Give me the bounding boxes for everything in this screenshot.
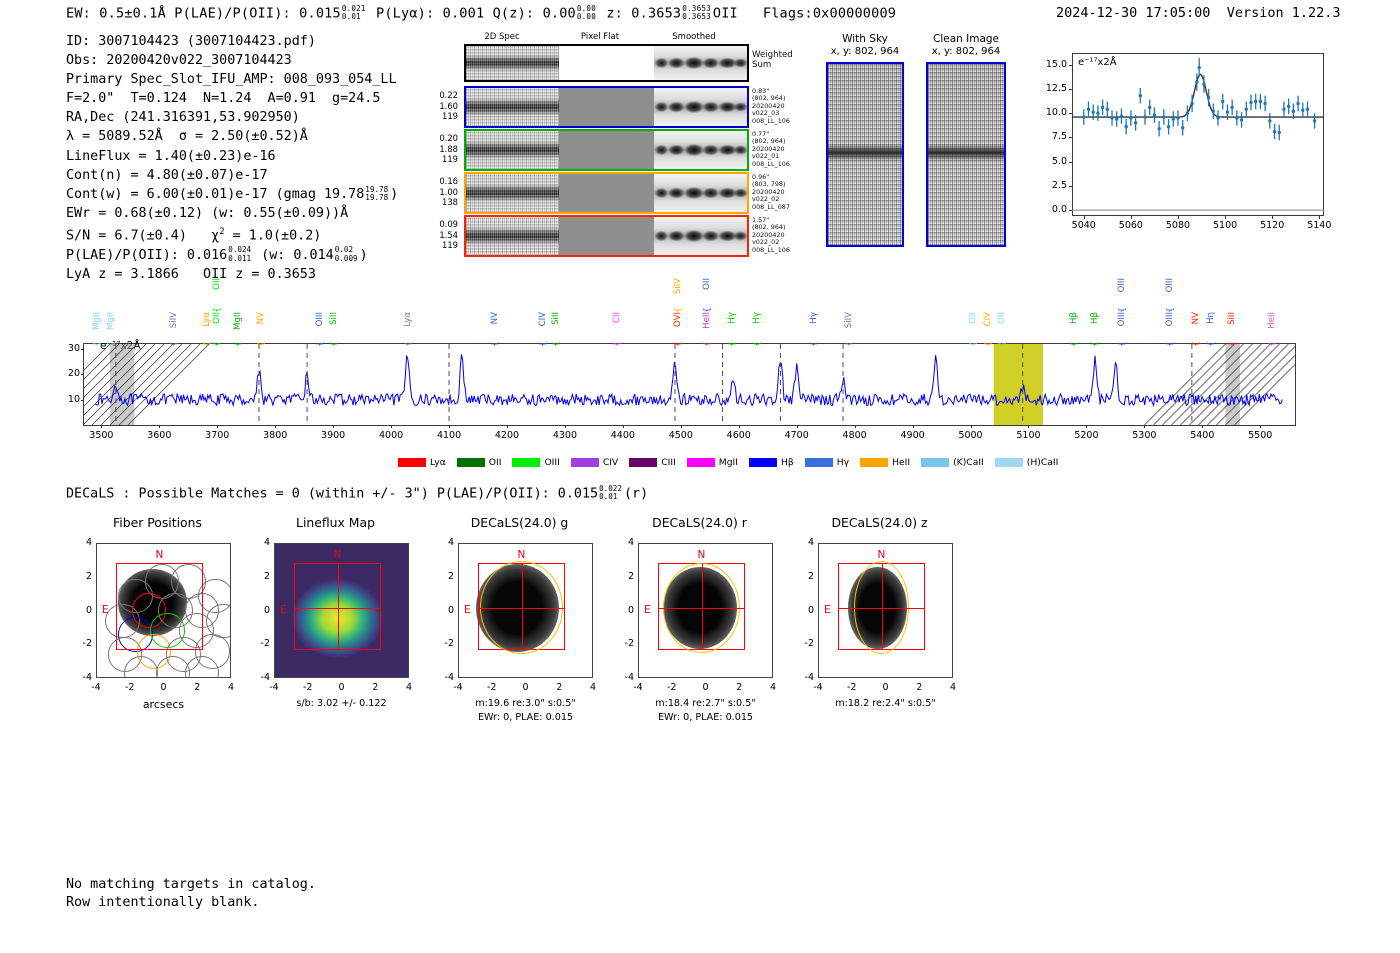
legend-item: CIV [571, 457, 618, 468]
legend-item: OIII [512, 457, 559, 468]
fiber-row-4 [464, 215, 749, 257]
gmag-errorbars: 19.7819.78 [365, 186, 388, 202]
plae-errorbars: 0.0210.01 [342, 5, 366, 22]
spectral-line-label: HeII [1267, 312, 1277, 329]
emission-ytick: 10.0 [1032, 107, 1067, 118]
spectral-line-label: MgII [92, 312, 102, 330]
emission-xtick-mark [1225, 216, 1226, 219]
spectral-line-label: NV [256, 312, 266, 324]
spectrum-xtick-mark [333, 425, 334, 428]
spectrum-xtick: 4600 [719, 430, 759, 441]
north-label: N [517, 549, 525, 561]
cutout-xtick: 2 [183, 682, 211, 693]
spectral-line-label: CIV [983, 312, 993, 326]
emission-ytick: 2.5 [1032, 180, 1067, 191]
fiber-2-2dspec [466, 131, 559, 169]
footer-line-2: Row intentionally blank. [66, 895, 259, 910]
spectral-line-label: NV [1191, 312, 1201, 324]
legend-swatch [749, 458, 777, 467]
plae-wide-errorbars: 0.020.009 [335, 246, 358, 262]
cutout-xtick: 0 [692, 682, 720, 693]
spectral-line-label: OII [997, 312, 1007, 324]
cutout-ytick: -4 [614, 672, 634, 683]
header-timestamp-version: 2024-12-30 17:05:00 Version 1.22.3 [1056, 5, 1341, 21]
cutout-panel-2: DECaLS(24.0) gNE-4-2024420-2-4m:19.6 re:… [432, 515, 607, 730]
fiber-1-2dspec [466, 88, 559, 126]
emission-xtick: 5060 [1114, 220, 1148, 231]
info-seeing: F=2.0" T=0.124 N=1.24 A=0.91 g=24.5 [66, 91, 380, 106]
cutout-xtick: -4 [82, 682, 110, 693]
spectral-line-label: CIV [538, 312, 548, 326]
fiber-2-numbers: 0.20 1.88 119 [400, 133, 458, 165]
weighted-sum-row [464, 44, 749, 82]
legend-label: (K)CaII [953, 457, 984, 468]
spectrum-ytick: 20 [52, 368, 80, 379]
info-lineflux: LineFlux = 1.40(±0.23)e-16 [66, 149, 276, 164]
fiber-1-numbers: 0.22 1.60 119 [400, 90, 458, 122]
info-cont-w-close: ) [390, 187, 398, 202]
cutout-xtick: 4 [759, 682, 787, 693]
spectrum-xtick: 4100 [429, 430, 469, 441]
spectrum-xtick: 4400 [603, 430, 643, 441]
cutout-xtick: -4 [804, 682, 832, 693]
fiber-1-meta: 0.83" (802, 964) 20200420 v022_03 008_LL… [752, 88, 790, 125]
col-title-pixelflat: Pixel Flat [560, 32, 640, 42]
spectrum-xtick-mark [565, 425, 566, 428]
spectral-line-label: Hγ [752, 312, 762, 324]
spectral-line-label: CII [612, 312, 622, 323]
legend-label: Hβ [781, 457, 794, 468]
qz-errorbars: 0.000.00 [577, 5, 596, 22]
cutout-xtick: -4 [624, 682, 652, 693]
cutout-ytick: -4 [72, 672, 92, 683]
decals-plae-errorbars: 0.0220.01 [599, 485, 622, 502]
spectrum-ytick: 10 [52, 394, 80, 405]
legend-item: (H)CaII [995, 457, 1059, 468]
east-label: E [644, 604, 651, 616]
spectral-line-label: OII [212, 312, 222, 324]
legend-item: (K)CaII [921, 457, 984, 468]
legend-item: HeII [860, 457, 910, 468]
sky-emission-band [828, 144, 902, 161]
spectral-line-bracket: } [672, 307, 682, 313]
fiber-2-meta: 0.77" (802, 964) 20200420 v022_01 008_LL… [752, 131, 790, 168]
legend-item: OII [457, 457, 502, 468]
cutout-xtick: -2 [294, 682, 322, 693]
header-plya-qz: P(Lyα): 0.001 Q(z): 0.00 [376, 5, 576, 21]
cutout-ytick: -4 [250, 672, 270, 683]
legend-swatch [921, 458, 949, 467]
spectrum-xtick: 4800 [835, 430, 875, 441]
stamp-clean-title: Clean Image [920, 33, 1012, 45]
aperture-box [116, 563, 204, 651]
spectrum-xtick: 5000 [951, 430, 991, 441]
stamp-clean-imagebox [926, 62, 1006, 247]
spectrum-xtick: 5300 [1124, 430, 1164, 441]
fiber-2-smoothed [654, 131, 747, 169]
fiber-4-meta: 1.57" (802, 964) 20200420 v022_02 008_LL… [752, 217, 790, 254]
cutout-xtick: 4 [395, 682, 423, 693]
spectrum-xtick-mark [855, 425, 856, 428]
cutout-ytick: -4 [434, 672, 454, 683]
spectrum-xtick-mark [449, 425, 450, 428]
spectral-line-label: OIII [1165, 312, 1175, 326]
legend-label: OIII [544, 457, 559, 468]
spectral-line-label: MgII [233, 312, 243, 330]
emission-xtick-mark [1319, 216, 1320, 219]
spectral-line-label: OIII [315, 312, 325, 326]
cutout-xtick: 4 [217, 682, 245, 693]
weighted-sum-label: Weighted Sum [752, 50, 793, 70]
cutout-image[interactable] [458, 543, 593, 678]
info-lambda-sigma: λ = 5089.52Å σ = 2.50(±0.52)Å [66, 129, 308, 144]
emission-xtick: 5100 [1208, 220, 1242, 231]
east-label: E [280, 604, 287, 616]
spectrum-xtick: 5100 [1008, 430, 1048, 441]
emission-xtick: 5120 [1255, 220, 1289, 231]
spectrum-xtick: 4300 [545, 430, 585, 441]
cutout-xtick: 2 [545, 682, 573, 693]
cutout-xtick: 2 [905, 682, 933, 693]
spectrum-xtick-mark [275, 425, 276, 428]
cutout-xtick: 4 [579, 682, 607, 693]
emission-plot-data [1072, 53, 1324, 216]
spectrum-xtick-mark [101, 425, 102, 428]
header-flags: Flags:0x00000009 [763, 5, 896, 21]
header-redshift: z: 0.3653 [606, 5, 681, 21]
header-z-species: OII [713, 5, 738, 21]
emission-xtick-mark [1178, 216, 1179, 219]
spec2d-panel-group: 2D Spec Pixel Flat Smoothed Weighted Sum… [432, 32, 762, 252]
spectral-line-label: SiII [1227, 312, 1237, 325]
cutout-ytick: 2 [250, 571, 270, 582]
spectrum-xtick-mark [1028, 425, 1029, 428]
cutout-xtick: -2 [658, 682, 686, 693]
cutout-xtick: 2 [725, 682, 753, 693]
emission-ytick: 15.0 [1032, 59, 1067, 70]
spectral-line-label: OII [212, 278, 222, 290]
clean-emission-band [928, 144, 1004, 161]
spectrum-xtick-mark [391, 425, 392, 428]
spectrum-xtick: 5200 [1066, 430, 1106, 441]
cutout-ytick: 2 [794, 571, 814, 582]
spectrum-xtick-mark [913, 425, 914, 428]
cutout-panel-0: Fiber PositionsNE-4-2024420-2-4arcsecs [70, 515, 245, 730]
cutout-ytick: -2 [72, 638, 92, 649]
east-label: E [102, 604, 109, 616]
legend-item: MgII [687, 457, 738, 468]
spectral-line-label: OIII [1117, 312, 1127, 326]
stamp-with-sky-coords: x, y: 802, 964 [820, 46, 910, 57]
spectral-line-label: OII [968, 312, 978, 324]
legend-swatch [512, 458, 540, 467]
decals-match-text: DECaLS : Possible Matches = 0 (within +/… [66, 486, 598, 501]
spectrum-xtick: 5500 [1240, 430, 1280, 441]
legend-label: Lyα [430, 457, 446, 468]
cutout-image[interactable] [96, 543, 231, 678]
cutout-xtick: 4 [939, 682, 967, 693]
legend-item: Hβ [749, 457, 794, 468]
spectrum-xtick-mark [1086, 425, 1087, 428]
legend-label: CIII [661, 457, 676, 468]
info-ewr: EWr = 0.68(±0.12) (w: 0.55(±0.09))Å [66, 206, 348, 221]
spectral-line-label: OIII [1117, 278, 1127, 292]
cutout-ytick: -4 [794, 672, 814, 683]
fiber-row-2 [464, 129, 749, 171]
spectral-line-label: SiIV [673, 278, 683, 294]
fiber-4-pixelflat [559, 217, 655, 255]
spectrum-xtick: 3800 [255, 430, 295, 441]
spectral-line-label: Hγ [809, 312, 819, 324]
cutout-ytick: 4 [434, 537, 454, 548]
emission-ytick: 0.0 [1032, 204, 1067, 215]
fiber-4-2dspec [466, 217, 559, 255]
cutout-panel-4: DECaLS(24.0) zNE-4-2024420-2-4m:18.2 re:… [792, 515, 967, 730]
fiber-3-numbers: 0.16 1.00 138 [400, 176, 458, 208]
cutout-ytick: 2 [434, 571, 454, 582]
spectrum-xtick-mark [159, 425, 160, 428]
cutout-ytick: -2 [614, 638, 634, 649]
cutout-caption-secondary: EWr: 0, PLAE: 0.015 [612, 712, 799, 723]
header-ew-plae: EW: 0.5±0.1Å P(LAE)/P(OII): 0.015 [66, 5, 341, 21]
info-cont-w: Cont(w) = 6.00(±0.01)e-17 (gmag 19.78 [66, 187, 364, 202]
cutout-caption-primary: m:18.4 re:2.7" s:0.5" [612, 698, 799, 709]
info-cont-n: Cont(n) = 4.80(±0.07)e-17 [66, 168, 268, 183]
z-errorbars: 0.36530.3653 [682, 5, 711, 22]
cutout-ytick: -2 [794, 638, 814, 649]
spectrum-xtick-mark [507, 425, 508, 428]
cutout-panel-title: Fiber Positions [60, 515, 255, 530]
cutout-caption-primary: m:18.2 re:2.4" s:0.5" [792, 698, 979, 709]
info-chi2: = 1.0(±0.2) [225, 228, 322, 243]
north-label: N [877, 549, 885, 561]
crosshair-vertical [338, 563, 339, 651]
cutout-xtick: -2 [478, 682, 506, 693]
plae-narrow-errorbars: 0.0240.011 [228, 246, 251, 262]
emission-ytick: 12.5 [1032, 83, 1067, 94]
full-spectrum-data [84, 344, 1295, 425]
spectrum-xtick: 3500 [81, 430, 121, 441]
header-summary-line: EW: 0.5±0.1Å P(LAE)/P(OII): 0.0150.0210.… [66, 5, 896, 22]
legend-label: Hγ [837, 457, 849, 468]
spectrum-xtick-mark [971, 425, 972, 428]
cutout-panel-3: DECaLS(24.0) rNE-4-2024420-2-4m:18.4 re:… [612, 515, 787, 730]
spectral-line-label: Hβ [1090, 312, 1100, 324]
fiber-4-smoothed [654, 217, 747, 255]
fiber-3-smoothed [654, 174, 747, 212]
emission-xtick-mark [1272, 216, 1273, 219]
weighted-sum-2dspec [466, 46, 559, 80]
spectrum-xtick-mark [681, 425, 682, 428]
stamp-clean-image: Clean Image x, y: 802, 964 [920, 33, 1012, 248]
stamp-with-sky: With Sky x, y: 802, 964 [820, 33, 910, 248]
object-info-block: ID: 3007104423 (3007104423.pdf) Obs: 202… [66, 32, 398, 284]
cutout-xlabel: arcsecs [76, 698, 251, 711]
legend-label: MgII [719, 457, 738, 468]
cutout-xtick: 0 [872, 682, 900, 693]
cutout-panel-title: DECaLS(24.0) g [422, 515, 617, 530]
cutout-ytick: 0 [434, 605, 454, 616]
decals-header: DECaLS : Possible Matches = 0 (within +/… [66, 485, 648, 502]
cutout-panel-title: DECaLS(24.0) r [602, 515, 797, 530]
spectral-line-label: SiIV [169, 312, 179, 328]
spectrum-xtick: 4500 [661, 430, 701, 441]
stamp-with-sky-title: With Sky [820, 33, 910, 45]
col-title-2dspec: 2D Spec [462, 32, 542, 42]
spectrum-legend: LyαOIIOIIICIVCIIIMgIIHβHγHeII(K)CaII(H)C… [398, 452, 1069, 471]
north-label: N [155, 549, 163, 561]
east-label: E [464, 604, 471, 616]
cutout-image[interactable] [818, 543, 953, 678]
cutout-xtick: 2 [361, 682, 389, 693]
legend-swatch [805, 458, 833, 467]
spectrum-xtick: 4000 [371, 430, 411, 441]
spectral-line-label: HeII [702, 312, 712, 329]
cutout-panel-1: Lineflux MapNE-4-2024420-2-4s/b: 3.02 +/… [248, 515, 423, 730]
cutout-xtick: -2 [116, 682, 144, 693]
legend-swatch [457, 458, 485, 467]
cutout-xtick: -2 [838, 682, 866, 693]
spectral-line-label: Hβ [1069, 312, 1079, 324]
weighted-sum-pixelflat [559, 46, 655, 80]
spectral-line-bracket: } [1116, 307, 1126, 313]
legend-label: OII [489, 457, 502, 468]
spectral-line-label: Hγ [727, 312, 737, 324]
spectrum-xtick-mark [1202, 425, 1203, 428]
info-snr: S/N = 6.7(±0.4) χ [66, 228, 219, 243]
legend-item: CIII [629, 457, 676, 468]
cutout-image[interactable] [274, 543, 409, 678]
crosshair-vertical [702, 563, 703, 651]
emission-xtick: 5040 [1067, 220, 1101, 231]
fiber-3-2dspec [466, 174, 559, 212]
cutout-panel-title: DECaLS(24.0) z [782, 515, 977, 530]
cutout-caption-primary: s/b: 3.02 +/- 0.122 [248, 698, 435, 709]
cutout-xtick: 0 [150, 682, 178, 693]
spectrum-xtick-mark [217, 425, 218, 428]
spectrum-xtick: 4200 [487, 430, 527, 441]
footer-line-1: No matching targets in catalog. [66, 877, 316, 892]
emission-line-plot: e⁻¹⁷x2Å 5040506050805100512051400.02.55.… [1032, 47, 1332, 247]
east-label: E [824, 604, 831, 616]
legend-label: (H)CaII [1027, 457, 1059, 468]
legend-swatch [398, 458, 426, 467]
cutout-ytick: 0 [794, 605, 814, 616]
north-label: N [333, 549, 341, 561]
emission-ytick: 5.0 [1032, 156, 1067, 167]
fiber-4-numbers: 0.09 1.54 119 [400, 219, 458, 251]
spectral-line-label: Lyα [403, 312, 413, 327]
fiber-1-pixelflat [559, 88, 655, 126]
info-plae: P(LAE)/P(OII): 0.016 [66, 248, 227, 263]
spectral-line-label: OVI [673, 312, 683, 327]
info-radec: RA,Dec (241.316391,53.902950) [66, 110, 300, 125]
info-plae-close: ) [360, 248, 368, 263]
cutout-ytick: 0 [614, 605, 634, 616]
timestamp: 2024-12-30 17:05:00 [1056, 5, 1210, 21]
legend-item: Hγ [805, 457, 849, 468]
footer-note: No matching targets in catalog. Row inte… [66, 876, 316, 912]
spectral-line-label: NV [490, 312, 500, 324]
spectrum-xtick-mark [623, 425, 624, 428]
spectral-line-label: OIII [1165, 278, 1175, 292]
emission-xtick-mark [1084, 216, 1085, 219]
spectrum-xtick: 5400 [1182, 430, 1222, 441]
legend-swatch [687, 458, 715, 467]
weighted-sum-smoothed [654, 46, 747, 80]
cutout-image[interactable] [638, 543, 773, 678]
col-title-smoothed: Smoothed [654, 32, 734, 42]
north-label: N [697, 549, 705, 561]
spectral-line-bracket: } [211, 307, 221, 313]
stamp-with-sky-image [826, 62, 904, 247]
cutout-ytick: 0 [250, 605, 270, 616]
cutout-xtick: -4 [260, 682, 288, 693]
fiber-3-pixelflat [559, 174, 655, 212]
spectral-line-label: Hη [1206, 312, 1216, 324]
spectrum-xtick-mark [1260, 425, 1261, 428]
legend-label: HeII [892, 457, 910, 468]
emission-xtick: 5140 [1302, 220, 1336, 231]
legend-label: CIV [603, 457, 618, 468]
spectrum-xtick: 3900 [313, 430, 353, 441]
cutout-ytick: 0 [72, 605, 92, 616]
cutout-caption-secondary: EWr: 0, PLAE: 0.015 [432, 712, 619, 723]
spectral-line-label: MgII [106, 312, 116, 330]
info-id: ID: 3007104423 (3007104423.pdf) [66, 34, 316, 49]
fiber-3-meta: 0.96" (803, 798) 20200420 v022_02 008_LL… [752, 174, 790, 211]
info-obs: Obs: 20200420v022_3007104423 [66, 53, 292, 68]
info-plae-wide: (w: 0.014 [253, 248, 334, 263]
cutout-ytick: 2 [72, 571, 92, 582]
cutout-caption-primary: m:19.6 re:3.0" s:0.5" [432, 698, 619, 709]
legend-item: Lyα [398, 457, 446, 468]
spectrum-xtick-mark [797, 425, 798, 428]
fiber-row-1 [464, 86, 749, 128]
spectral-line-bracket: } [701, 307, 711, 313]
emission-xtick-mark [1131, 216, 1132, 219]
cutout-ytick: 4 [794, 537, 814, 548]
cutout-xtick: 0 [512, 682, 540, 693]
cutout-ytick: -2 [434, 638, 454, 649]
cutout-xtick: -4 [444, 682, 472, 693]
legend-swatch [571, 458, 599, 467]
spectrum-xtick: 3600 [139, 430, 179, 441]
fiber-2-pixelflat [559, 131, 655, 169]
emission-ytick: 7.5 [1032, 131, 1067, 142]
fiber-1-smoothed [654, 88, 747, 126]
crosshair-vertical [522, 563, 523, 651]
legend-swatch [995, 458, 1023, 467]
cutout-ytick: 4 [72, 537, 92, 548]
spectral-line-label: SiII [551, 312, 561, 325]
spectral-line-label: OII [702, 278, 712, 290]
cutout-xtick: 0 [328, 682, 356, 693]
spectrum-ytick: 30 [52, 343, 80, 354]
fiber-row-3 [464, 172, 749, 214]
spectrum-xtick: 4900 [893, 430, 933, 441]
stamp-clean-coords: x, y: 802, 964 [920, 46, 1012, 57]
spectrum-xtick-mark [739, 425, 740, 428]
spectral-line-bracket: } [1164, 307, 1174, 313]
spectral-line-label: SiII [329, 312, 339, 325]
cutout-ytick: 4 [614, 537, 634, 548]
info-primary-spec: Primary Spec_Slot_IFU_AMP: 008_093_054_L… [66, 72, 397, 87]
cutout-ytick: -2 [250, 638, 270, 649]
legend-swatch [629, 458, 657, 467]
version-label: Version 1.22.3 [1227, 5, 1341, 21]
crosshair-vertical [882, 563, 883, 651]
